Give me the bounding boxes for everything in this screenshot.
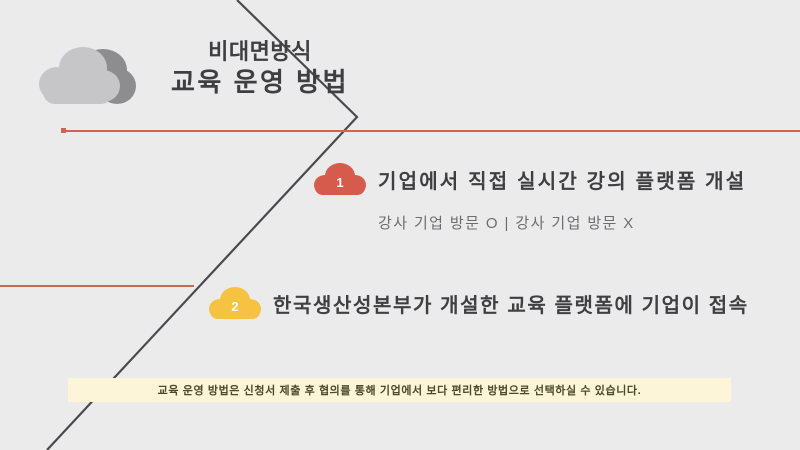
note-banner: 교육 운영 방법은 신청서 제출 후 협의를 통해 기업에서 보다 편리한 방법… — [68, 378, 731, 402]
note-text: 교육 운영 방법은 신청서 제출 후 협의를 통해 기업에서 보다 편리한 방법… — [158, 382, 642, 398]
list-item: 1 기업에서 직접 실시간 강의 플랫폼 개설 — [312, 160, 746, 198]
slide-canvas: 비대면방식 교육 운영 방법 1 기업에서 직접 실시간 강의 플랫폼 개설 강… — [0, 0, 800, 450]
horizontal-rule-left — [0, 285, 194, 287]
cloud-badge-icon-1: 1 — [312, 160, 368, 198]
cloud-badge-icon-2: 2 — [207, 284, 263, 322]
badge-number-1: 1 — [312, 160, 368, 198]
page-title: 비대면방식 교육 운영 방법 — [130, 38, 390, 99]
title-line-1: 비대면방식 — [130, 38, 390, 66]
horizontal-rule-top — [63, 130, 800, 132]
list-item-heading-2: 한국생산성본부가 개설한 교육 플랫폼에 기업이 접속 — [273, 289, 749, 318]
badge-number-2: 2 — [207, 284, 263, 322]
list-item-subtitle-1: 강사 기업 방문 O | 강사 기업 방문 X — [378, 212, 635, 233]
cloud-icon — [33, 42, 143, 112]
list-item-heading-1: 기업에서 직접 실시간 강의 플랫폼 개설 — [378, 165, 746, 194]
title-line-2: 교육 운영 방법 — [130, 66, 390, 100]
list-item: 2 한국생산성본부가 개설한 교육 플랫폼에 기업이 접속 — [207, 284, 749, 322]
